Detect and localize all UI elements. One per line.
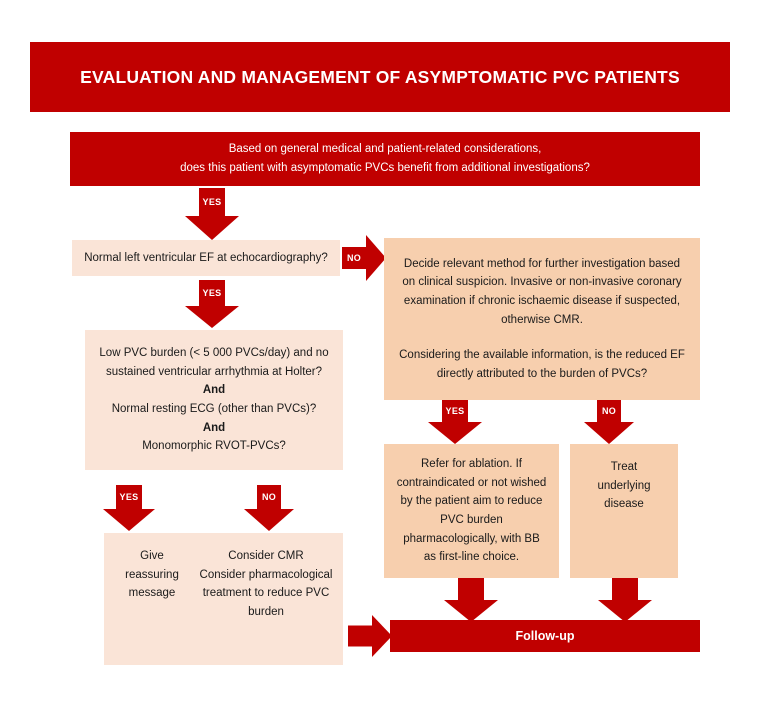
arrow-investigation-no: NO xyxy=(584,400,634,444)
arrow-investigation-no-label: NO xyxy=(597,400,621,422)
arrow-holter-yes-head xyxy=(103,509,155,531)
arrow-cmr-to-followup-label xyxy=(348,626,372,647)
treat-line-3: disease xyxy=(576,495,672,514)
arrow-holter-yes: YES xyxy=(103,485,155,531)
arrow-investigation-yes-head xyxy=(428,422,482,444)
chart-title-bar: EVALUATION AND MANAGEMENT OF ASYMPTOMATI… xyxy=(30,42,730,112)
cmr-line-2: Consider pharmacological xyxy=(193,566,339,585)
followup-box: Follow-up xyxy=(390,620,700,652)
investigation-line-3: examination if chronic ischaemic disease… xyxy=(398,292,686,311)
ablation-line-6: as first-line choice. xyxy=(390,548,553,567)
investigation-line-5: Considering the available information, i… xyxy=(398,346,686,365)
investigation-box: Decide relevant method for further inves… xyxy=(384,238,700,400)
arrow-investigation-yes: YES xyxy=(428,400,482,444)
cmr-box: Consider CMR Consider pharmacological tr… xyxy=(189,533,343,665)
arrow-cmr-to-followup-head xyxy=(372,615,392,657)
ablation-line-1: Refer for ablation. If xyxy=(390,455,553,474)
reassure-line-1: Give xyxy=(108,547,196,566)
reassure-line-2: reassuring xyxy=(108,566,196,585)
arrow-echo-yes-head xyxy=(185,306,239,328)
arrow-root-yes: YES xyxy=(185,188,239,240)
ablation-box: Refer for ablation. If contraindicated o… xyxy=(384,444,559,578)
arrow-cmr-to-followup xyxy=(348,614,392,658)
arrow-holter-no: NO xyxy=(244,485,294,531)
arrow-treat-to-followup-head xyxy=(598,600,652,622)
chart-title-text: EVALUATION AND MANAGEMENT OF ASYMPTOMATI… xyxy=(80,67,680,88)
investigation-spacer xyxy=(398,329,686,346)
flowchart-canvas: EVALUATION AND MANAGEMENT OF ASYMPTOMATI… xyxy=(0,0,760,712)
arrow-echo-no-label: NO xyxy=(342,247,366,269)
investigation-line-2: on clinical suspicion. Invasive or non-i… xyxy=(398,273,686,292)
treat-underlying-box: Treat underlying disease xyxy=(570,444,678,578)
arrow-ablation-to-followup-head xyxy=(444,600,498,622)
arrow-ablation-to-followup xyxy=(444,578,498,622)
investigation-line-4: otherwise CMR. xyxy=(398,311,686,330)
investigation-line-6: directly attributed to the burden of PVC… xyxy=(398,365,686,384)
arrow-investigation-no-head xyxy=(584,422,634,444)
root-question-line-2: does this patient with asymptomatic PVCs… xyxy=(80,159,690,178)
treat-line-2: underlying xyxy=(576,477,672,496)
echo-question-text: Normal left ventricular EF at echocardio… xyxy=(84,252,328,264)
arrow-root-yes-label: YES xyxy=(199,188,225,216)
reassure-box: Give reassuring message xyxy=(104,533,200,665)
arrow-holter-yes-label: YES xyxy=(116,485,142,509)
holter-question-box: Low PVC burden (< 5 000 PVCs/day) and no… xyxy=(85,330,343,470)
root-question-line-1: Based on general medical and patient-rel… xyxy=(80,140,690,159)
arrow-ablation-to-followup-label xyxy=(458,578,484,600)
treat-line-1: Treat xyxy=(576,458,672,477)
arrow-root-yes-head xyxy=(185,216,239,240)
followup-text: Follow-up xyxy=(515,629,574,643)
holter-question-line-4: Monomorphic RVOT-PVCs? xyxy=(95,437,333,456)
ablation-line-4: PVC burden xyxy=(390,511,553,530)
arrow-echo-yes-label: YES xyxy=(199,280,225,306)
cmr-line-4: burden xyxy=(193,603,339,622)
arrow-holter-no-label: NO xyxy=(257,485,281,509)
ablation-line-2: contraindicated or not wished xyxy=(390,474,553,493)
arrow-echo-yes: YES xyxy=(185,280,239,328)
arrow-treat-to-followup-label xyxy=(612,578,638,600)
holter-question-line-1: Low PVC burden (< 5 000 PVCs/day) and no xyxy=(95,344,333,363)
arrow-echo-no-head xyxy=(366,235,386,281)
holter-question-line-3: Normal resting ECG (other than PVCs)? xyxy=(95,400,333,419)
cmr-line-3: treatment to reduce PVC xyxy=(193,584,339,603)
investigation-line-1: Decide relevant method for further inves… xyxy=(398,255,686,274)
arrow-treat-to-followup xyxy=(598,578,652,622)
arrow-echo-no: NO xyxy=(342,235,386,281)
arrow-holter-no-head xyxy=(244,509,294,531)
ablation-line-3: by the patient aim to reduce xyxy=(390,492,553,511)
ablation-line-5: pharmacologically, with BB xyxy=(390,530,553,549)
holter-question-and-2: And xyxy=(95,419,333,438)
arrow-investigation-yes-label: YES xyxy=(442,400,468,422)
root-question-box: Based on general medical and patient-rel… xyxy=(70,132,700,186)
reassure-line-3: message xyxy=(108,584,196,603)
holter-question-line-2: sustained ventricular arrhythmia at Holt… xyxy=(95,363,333,382)
cmr-line-1: Consider CMR xyxy=(193,547,339,566)
echo-question-box: Normal left ventricular EF at echocardio… xyxy=(72,240,340,276)
holter-question-and-1: And xyxy=(95,381,333,400)
